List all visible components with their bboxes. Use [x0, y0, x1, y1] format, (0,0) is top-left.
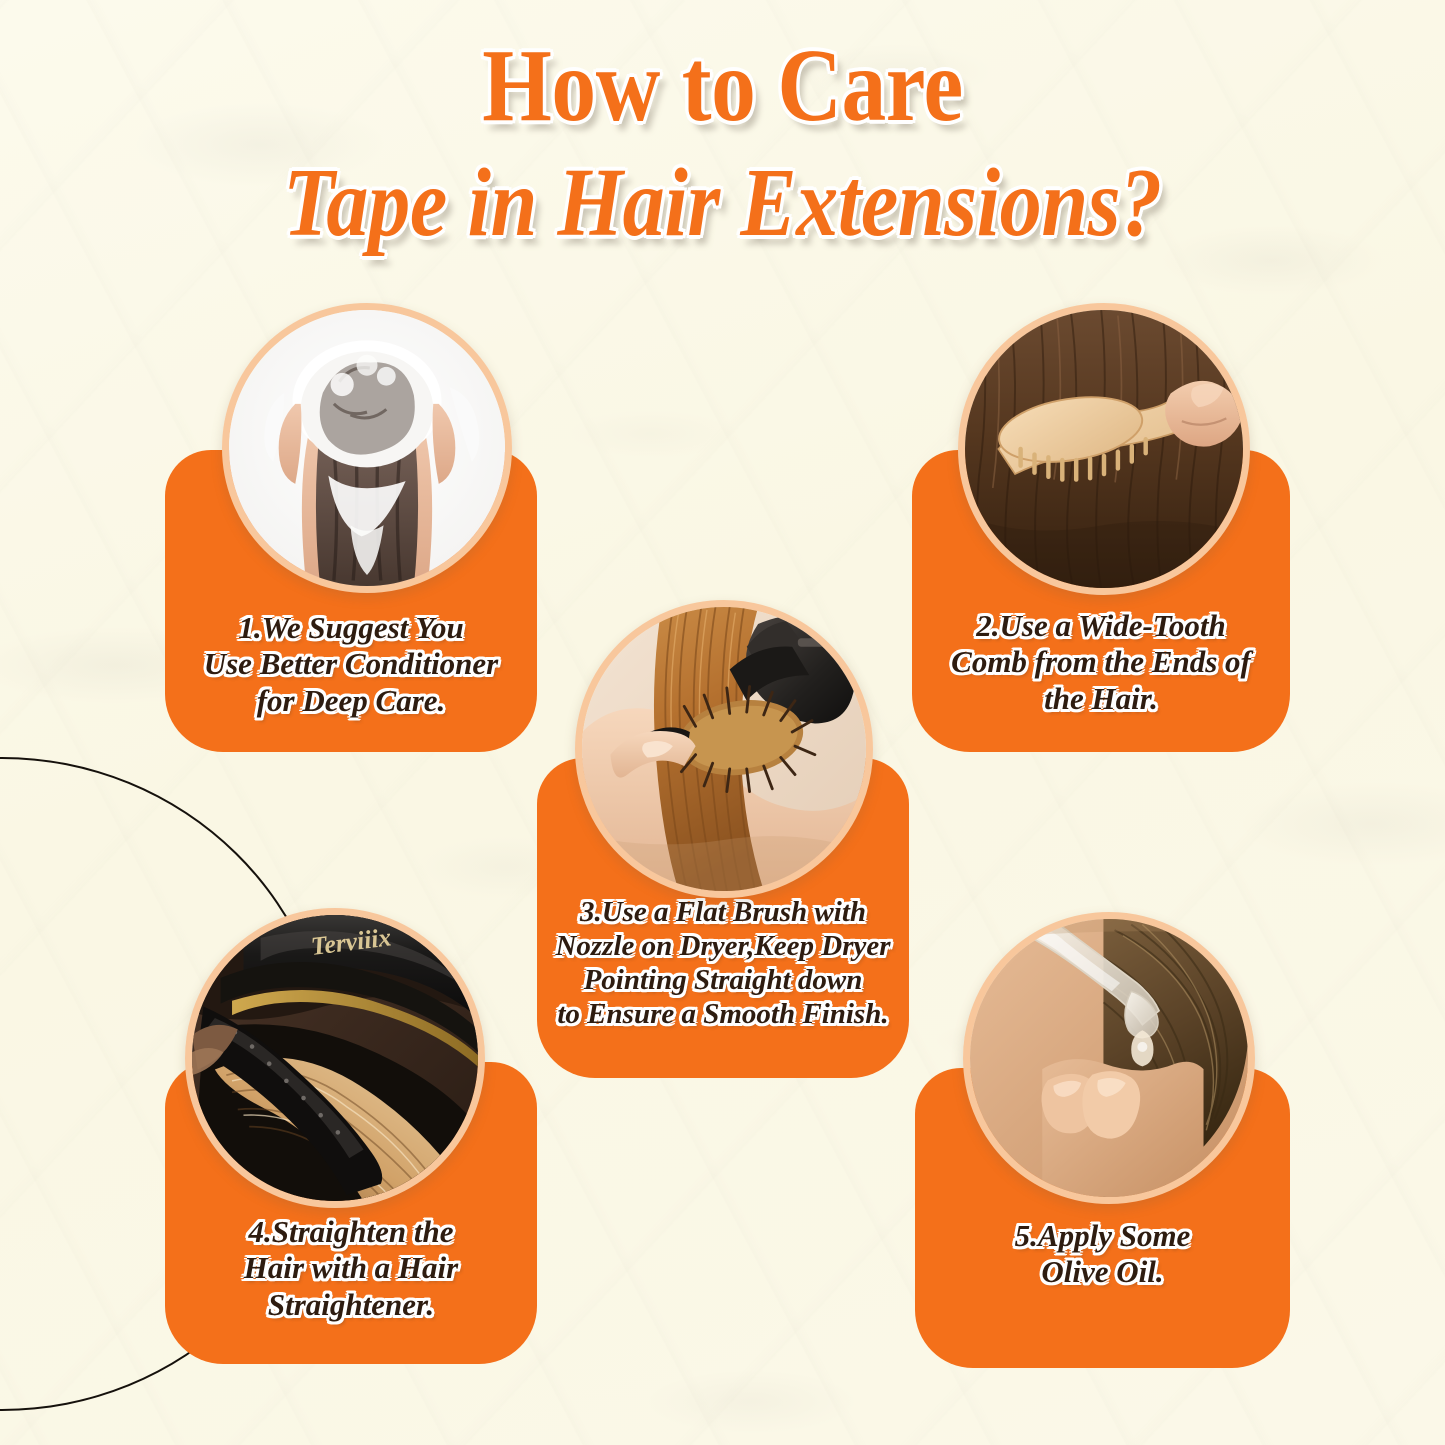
step-2-caption: 2.Use a Wide-Tooth Comb from the Ends of…	[912, 608, 1290, 717]
step-3-caption-line-4: to Ensure a Smooth Finish.	[545, 998, 901, 1032]
step-1-caption-line-1: 1.We Suggest You	[173, 610, 529, 646]
wooden-paddle-brush-on-brown-hair-photo	[958, 303, 1250, 595]
step-4-caption-line-3: Straightener.	[173, 1287, 529, 1323]
flat-iron-straightening-blonde-strand-photo: Terviiix	[185, 908, 485, 1208]
step-4-caption-line-2: Hair with a Hair	[173, 1250, 529, 1286]
blow-dryer-with-round-brush-photo	[575, 600, 873, 898]
step-3-caption: 3.Use a Flat Brush with Nozzle on Dryer,…	[537, 896, 909, 1032]
step-4-caption: 4.Straighten the Hair with a Hair Straig…	[165, 1214, 537, 1323]
step-2-caption-line-3: the Hair.	[920, 681, 1282, 717]
title-line-2: Tape in Hair Extensions?	[101, 154, 1344, 252]
washing-hair-with-shampoo-lather-photo	[222, 303, 512, 593]
step-1-caption-line-3: for Deep Care.	[173, 683, 529, 719]
infographic-poster: How to Care Tape in Hair Extensions? 1.W…	[0, 0, 1445, 1445]
step-3-caption-line-1: 3.Use a Flat Brush with	[545, 896, 901, 930]
dropper-applying-oil-to-hair-photo	[963, 912, 1255, 1204]
step-5-caption-line-2: Olive Oil.	[923, 1254, 1282, 1290]
step-2-caption-line-1: 2.Use a Wide-Tooth	[920, 608, 1282, 644]
step-5-caption-line-1: 5.Apply Some	[923, 1218, 1282, 1254]
step-4-caption-line-1: 4.Straighten the	[173, 1214, 529, 1250]
step-3-caption-line-3: Pointing Straight down	[545, 964, 901, 998]
title-line-1: How to Care	[101, 34, 1344, 138]
poster-title: How to Care Tape in Hair Extensions?	[0, 34, 1445, 252]
step-2-caption-line-2: Comb from the Ends of	[920, 644, 1282, 680]
step-3-caption-line-2: Nozzle on Dryer,Keep Dryer	[545, 930, 901, 964]
step-1-caption-line-2: Use Better Conditioner	[173, 646, 529, 682]
step-1-caption: 1.We Suggest You Use Better Conditioner …	[165, 610, 537, 719]
step-5-caption: 5.Apply Some Olive Oil.	[915, 1218, 1290, 1291]
